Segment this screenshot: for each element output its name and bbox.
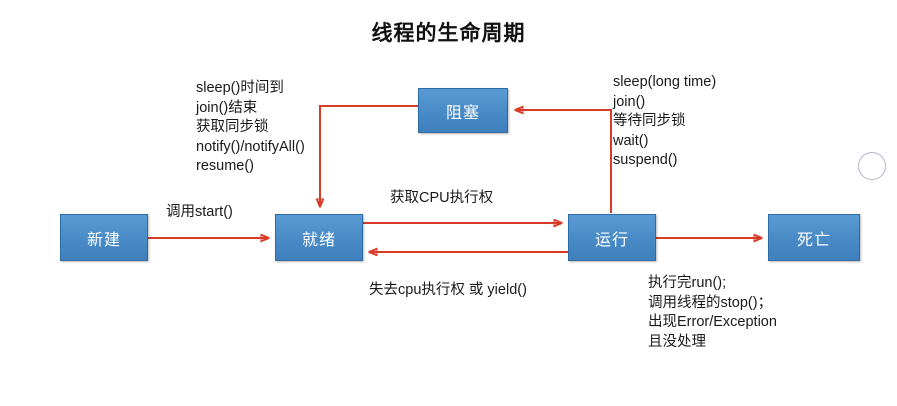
decorative-circle-icon bbox=[858, 152, 886, 180]
note-terminate-line-4: 且没处理 bbox=[648, 334, 706, 350]
note-block: sleep(long time) join() 等待同步锁 wait() sus… bbox=[613, 73, 716, 171]
note-unblock-line-3: 获取同步锁 bbox=[196, 119, 269, 135]
state-label-new: 新建 bbox=[87, 226, 121, 250]
note-terminate-line-1: 执行完run(); bbox=[648, 275, 726, 291]
note-unblock-line-4: notify()/notifyAll() bbox=[196, 139, 305, 155]
state-box-blocked[interactable]: 阻塞 bbox=[418, 88, 508, 133]
state-label-running: 运行 bbox=[595, 226, 629, 250]
note-block-line-4: wait() bbox=[613, 133, 648, 149]
note-unblock-line-1: sleep()时间到 bbox=[196, 80, 284, 96]
edge-label-get-cpu: 获取CPU执行权 bbox=[390, 186, 493, 207]
edge-label-start: 调用start() bbox=[166, 200, 233, 221]
note-block-line-5: suspend() bbox=[613, 152, 677, 168]
note-terminate-line-2: 调用线程的stop()； bbox=[648, 295, 772, 311]
note-unblock: sleep()时间到 join()结束 获取同步锁 notify()/notif… bbox=[196, 79, 305, 177]
arrow-running-to-blocked bbox=[516, 110, 611, 213]
note-unblock-line-5: resume() bbox=[196, 158, 254, 174]
state-label-dead: 死亡 bbox=[797, 226, 831, 250]
note-terminate-line-3: 出现Error/Exception bbox=[648, 314, 777, 330]
page-title: 线程的生命周期 bbox=[0, 17, 897, 47]
state-label-blocked: 阻塞 bbox=[446, 99, 480, 123]
note-block-line-2: join() bbox=[613, 94, 645, 110]
edge-label-lose-cpu: 失去cpu执行权 或 yield() bbox=[369, 278, 527, 299]
state-label-ready: 就绪 bbox=[302, 226, 336, 250]
state-box-running[interactable]: 运行 bbox=[568, 214, 656, 261]
note-terminate: 执行完run(); 调用线程的stop()； 出现Error/Exception… bbox=[648, 274, 777, 352]
diagram-canvas: 线程的生命周期 新建 就绪 运行 阻塞 死亡 调用start() bbox=[0, 0, 897, 406]
note-unblock-line-2: join()结束 bbox=[196, 100, 257, 116]
state-box-ready[interactable]: 就绪 bbox=[275, 214, 363, 261]
state-box-dead[interactable]: 死亡 bbox=[768, 214, 860, 261]
note-block-line-3: 等待同步锁 bbox=[613, 113, 686, 129]
state-box-new[interactable]: 新建 bbox=[60, 214, 148, 261]
note-block-line-1: sleep(long time) bbox=[613, 74, 716, 90]
